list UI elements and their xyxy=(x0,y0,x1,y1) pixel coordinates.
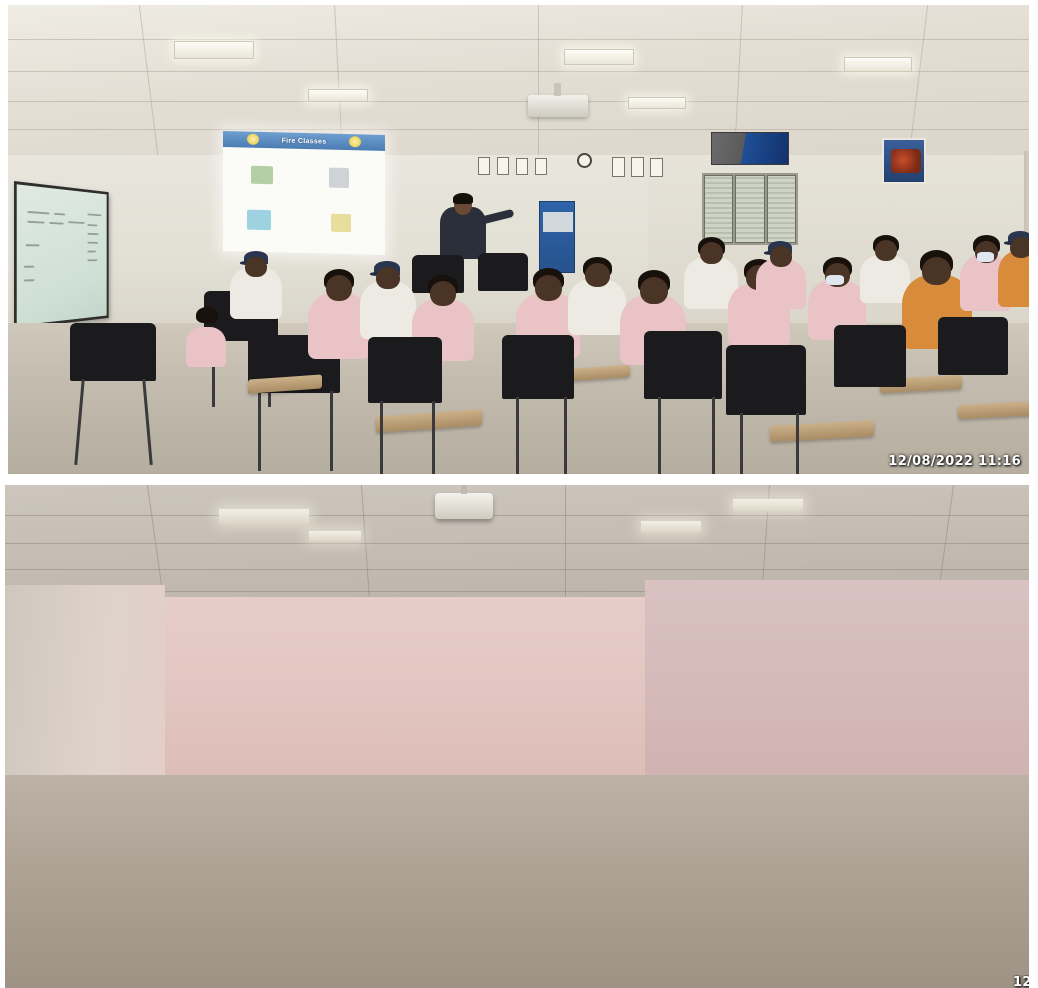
empty-chair xyxy=(502,335,574,399)
ceiling-light xyxy=(641,521,701,532)
notice-panel xyxy=(704,175,733,243)
slide-graphic xyxy=(247,210,271,231)
chair-leg xyxy=(712,397,715,474)
chair-leg xyxy=(740,413,743,474)
framed-certificate xyxy=(535,158,547,175)
ceiling-light xyxy=(844,57,912,72)
photo-collage: Fire Classes xyxy=(0,0,1038,988)
empty-chair xyxy=(70,323,156,381)
notice-board xyxy=(702,173,798,245)
ceiling-light xyxy=(309,531,361,541)
classroom-door[interactable] xyxy=(539,201,575,273)
slide-graphic xyxy=(331,214,351,232)
ceiling-light xyxy=(219,509,309,523)
ceiling-light xyxy=(564,49,634,65)
chair-leg xyxy=(516,397,519,474)
slide-graphic xyxy=(329,168,349,188)
chair-leg xyxy=(258,391,261,471)
framed-certificate xyxy=(612,157,625,177)
photo-bottom: SHIPYARD Fire Safety & Fire Extinguisher… xyxy=(5,485,1029,988)
framed-certificate xyxy=(497,157,509,175)
door-window xyxy=(543,212,573,232)
chair-leg xyxy=(432,401,435,474)
empty-chair xyxy=(834,325,906,387)
whiteboard-surface xyxy=(17,184,107,325)
empty-chair xyxy=(644,331,722,399)
framed-motorcycle-poster xyxy=(882,138,926,184)
ceiling xyxy=(8,5,1029,160)
projector-screen: Fire Classes xyxy=(223,131,385,255)
empty-chair xyxy=(938,317,1008,375)
notice-panel xyxy=(767,175,796,243)
ceiling-light xyxy=(628,97,686,109)
wall-clock-icon xyxy=(577,153,592,168)
framed-certificate xyxy=(516,158,528,175)
safety-banner-poster xyxy=(711,132,789,165)
photo-top: Fire Classes xyxy=(8,5,1029,474)
photo-timestamp: 12 xyxy=(1013,975,1029,988)
chair-leg xyxy=(564,397,567,474)
face-mask-icon xyxy=(826,275,844,285)
slide-header: Fire Classes xyxy=(223,131,385,151)
floor xyxy=(5,775,1029,988)
empty-chair xyxy=(368,337,442,403)
ceiling-projector xyxy=(528,95,588,117)
notice-panel xyxy=(735,175,764,243)
slide-graphic xyxy=(251,166,273,185)
chair-leg xyxy=(796,413,799,474)
photo-timestamp: 12/08/2022 11:16 xyxy=(888,454,1021,469)
chair-leg xyxy=(330,391,333,471)
empty-chair xyxy=(726,345,806,415)
face-mask-icon xyxy=(977,252,994,262)
right-wall xyxy=(645,580,1029,790)
chair-leg xyxy=(380,401,383,474)
ceiling-light xyxy=(308,89,368,102)
chair-leg xyxy=(658,397,661,474)
ceiling-projector xyxy=(435,493,493,519)
ceiling-light xyxy=(174,41,254,59)
empty-chair xyxy=(478,253,528,291)
ceiling-light xyxy=(733,499,803,511)
left-wall xyxy=(5,585,165,785)
framed-certificate xyxy=(478,157,490,175)
slide-title: Fire Classes xyxy=(282,137,327,145)
whiteboard xyxy=(14,181,109,329)
framed-certificate xyxy=(650,158,663,177)
framed-certificate xyxy=(631,157,644,177)
